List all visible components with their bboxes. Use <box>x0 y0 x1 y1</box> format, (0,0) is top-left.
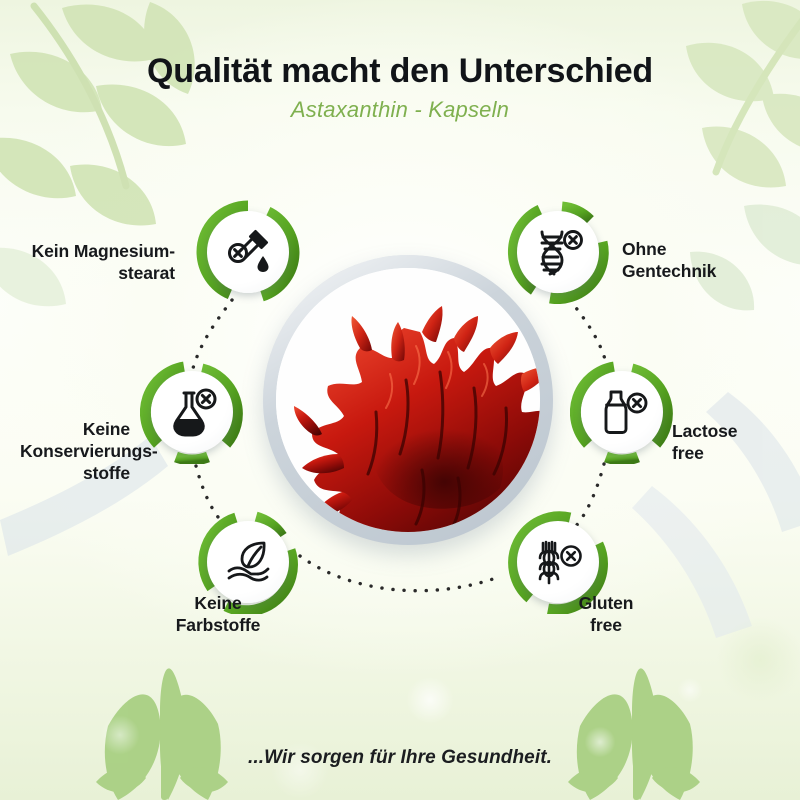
badge-lactose[interactable] <box>570 360 674 464</box>
center-product-medallion <box>263 255 553 545</box>
infographic-canvas: Qualität macht den Unterschied Astaxanth… <box>0 0 800 800</box>
badge-label-lactose: Lactose free <box>672 420 792 464</box>
badge-icon-disc <box>581 371 663 453</box>
badge-label-magnesiumstearat: Kein Magnesium- stearat <box>20 240 175 284</box>
header-block: Qualität macht den Unterschied Astaxanth… <box>0 52 800 123</box>
badge-label-gentechnik: Ohne Gentechnik <box>622 238 792 282</box>
page-subtitle: Astaxanthin - Kapseln <box>0 97 800 123</box>
center-image-clip <box>276 268 540 532</box>
badge-label-konservierungsstoffe: Keine Konservierungs- stoffe <box>20 418 130 485</box>
page-title: Qualität macht den Unterschied <box>0 52 800 91</box>
milk-bottle-icon <box>594 384 650 440</box>
red-algae-photo <box>294 302 540 532</box>
badge-label-gluten: Gluten free <box>506 592 706 636</box>
badge-icon-disc <box>151 371 233 453</box>
footer-tagline: ...Wir sorgen für Ihre Gesundheit. <box>0 747 800 769</box>
badge-label-farbstoffe: Keine Farbstoffe <box>118 592 318 636</box>
flask-icon <box>163 383 221 441</box>
